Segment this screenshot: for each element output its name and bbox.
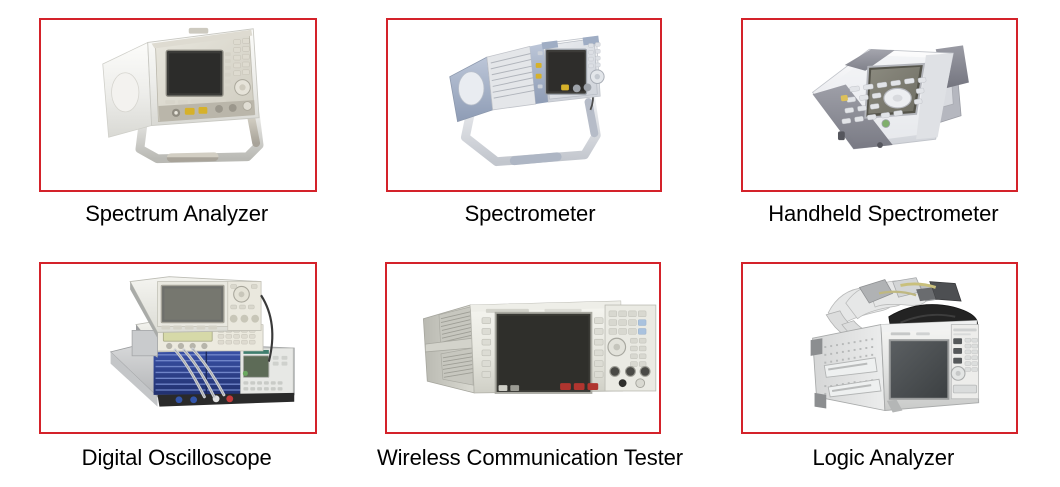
logic-analyzer-image — [743, 264, 1016, 432]
caption-spectrum-analyzer: Spectrum Analyzer — [85, 201, 268, 227]
caption-digital-oscilloscope: Digital Oscilloscope — [82, 445, 272, 471]
photo-frame-handheld-spectrometer[interactable] — [741, 18, 1018, 192]
photo-frame-logic-analyzer[interactable] — [741, 262, 1018, 434]
grid-cell-digital-oscilloscope[interactable]: Digital Oscilloscope — [0, 245, 353, 487]
photo-frame-digital-oscilloscope[interactable] — [39, 262, 317, 434]
caption-spectrometer: Spectrometer — [465, 201, 596, 227]
instrument-grid-sheet: Spectrum Analyzer — [0, 0, 1060, 487]
handheld-spectrometer-image — [743, 20, 1016, 190]
caption-handheld-spectrometer: Handheld Spectrometer — [768, 201, 998, 227]
caption-logic-analyzer: Logic Analyzer — [812, 445, 954, 471]
spectrometer-image — [388, 20, 660, 190]
photo-frame-wireless-communication-tester[interactable] — [385, 262, 661, 434]
spectrum-analyzer-image — [41, 20, 315, 190]
grid-cell-wireless-communication-tester[interactable]: Wireless Communication Tester — [353, 245, 706, 487]
grid-cell-logic-analyzer[interactable]: Logic Analyzer — [707, 245, 1060, 487]
grid-cell-spectrometer[interactable]: Spectrometer — [353, 0, 706, 245]
grid-cell-handheld-spectrometer[interactable]: Handheld Spectrometer — [707, 0, 1060, 245]
caption-wireless-communication-tester: Wireless Communication Tester — [377, 445, 683, 471]
photo-frame-spectrum-analyzer[interactable] — [39, 18, 317, 192]
grid-cell-spectrum-analyzer[interactable]: Spectrum Analyzer — [0, 0, 353, 245]
wireless-communication-tester-image — [387, 264, 659, 432]
digital-oscilloscope-image — [41, 264, 315, 432]
instrument-grid: Spectrum Analyzer — [0, 0, 1060, 487]
photo-frame-spectrometer[interactable] — [386, 18, 662, 192]
